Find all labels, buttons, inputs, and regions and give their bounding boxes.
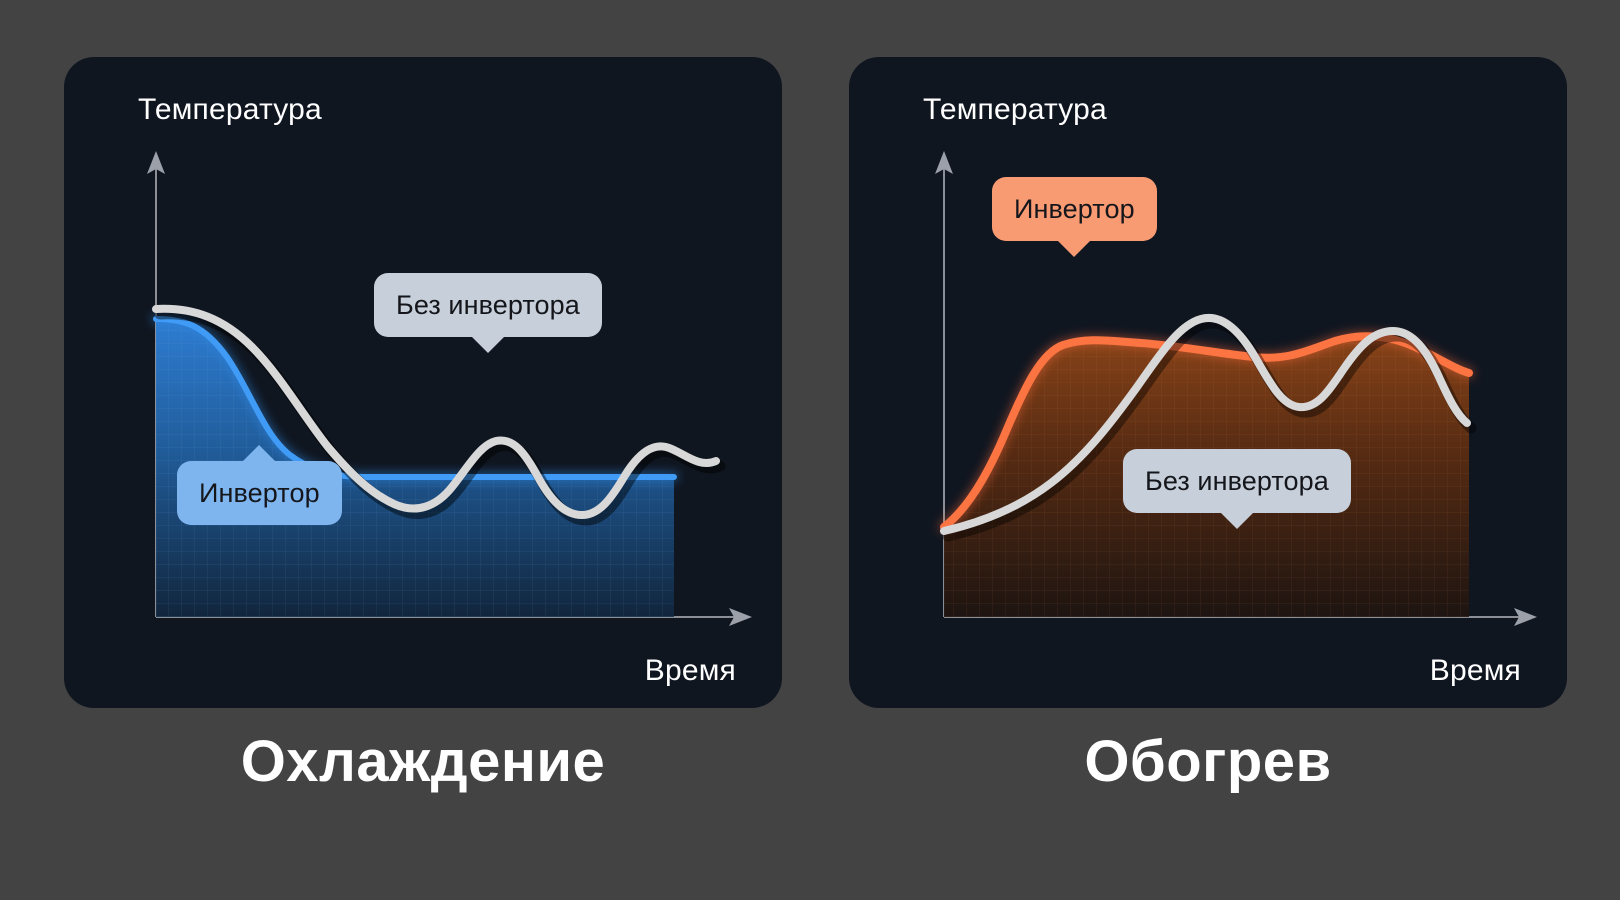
chart-heating (849, 57, 1567, 708)
caption-heating: Обогрев (849, 728, 1567, 795)
x-axis-label-heating: Время (1430, 654, 1521, 688)
chart-card-cooling: Температура Время Без инвертора Инвертор (64, 57, 782, 708)
badge-tail-icon (1220, 512, 1254, 529)
badge-tail-icon (242, 445, 276, 462)
badge-tail-icon (1057, 240, 1091, 257)
chart-card-heating: Температура Время Инвертор Без инвертора (849, 57, 1567, 708)
y-axis-label-cooling: Температура (138, 93, 322, 127)
badge-inverter-heating[interactable]: Инвертор (992, 177, 1157, 241)
caption-cooling: Охлаждение (64, 728, 782, 795)
comparison-infographic: Температура Время Без инвертора Инвертор (0, 0, 1620, 900)
badge-inverter-cooling[interactable]: Инвертор (177, 461, 342, 525)
badge-without-inverter-heating[interactable]: Без инвертора (1123, 449, 1351, 513)
badge-without-inverter-cooling[interactable]: Без инвертора (374, 273, 602, 337)
y-axis-label-heating: Температура (923, 93, 1107, 127)
badge-tail-icon (471, 336, 505, 353)
panel-heating: Температура Время Инвертор Без инвертора (849, 57, 1567, 708)
x-axis-label-cooling: Время (645, 654, 736, 688)
chart-cooling (64, 57, 782, 708)
panel-cooling: Температура Время Без инвертора Инвертор (64, 57, 782, 708)
